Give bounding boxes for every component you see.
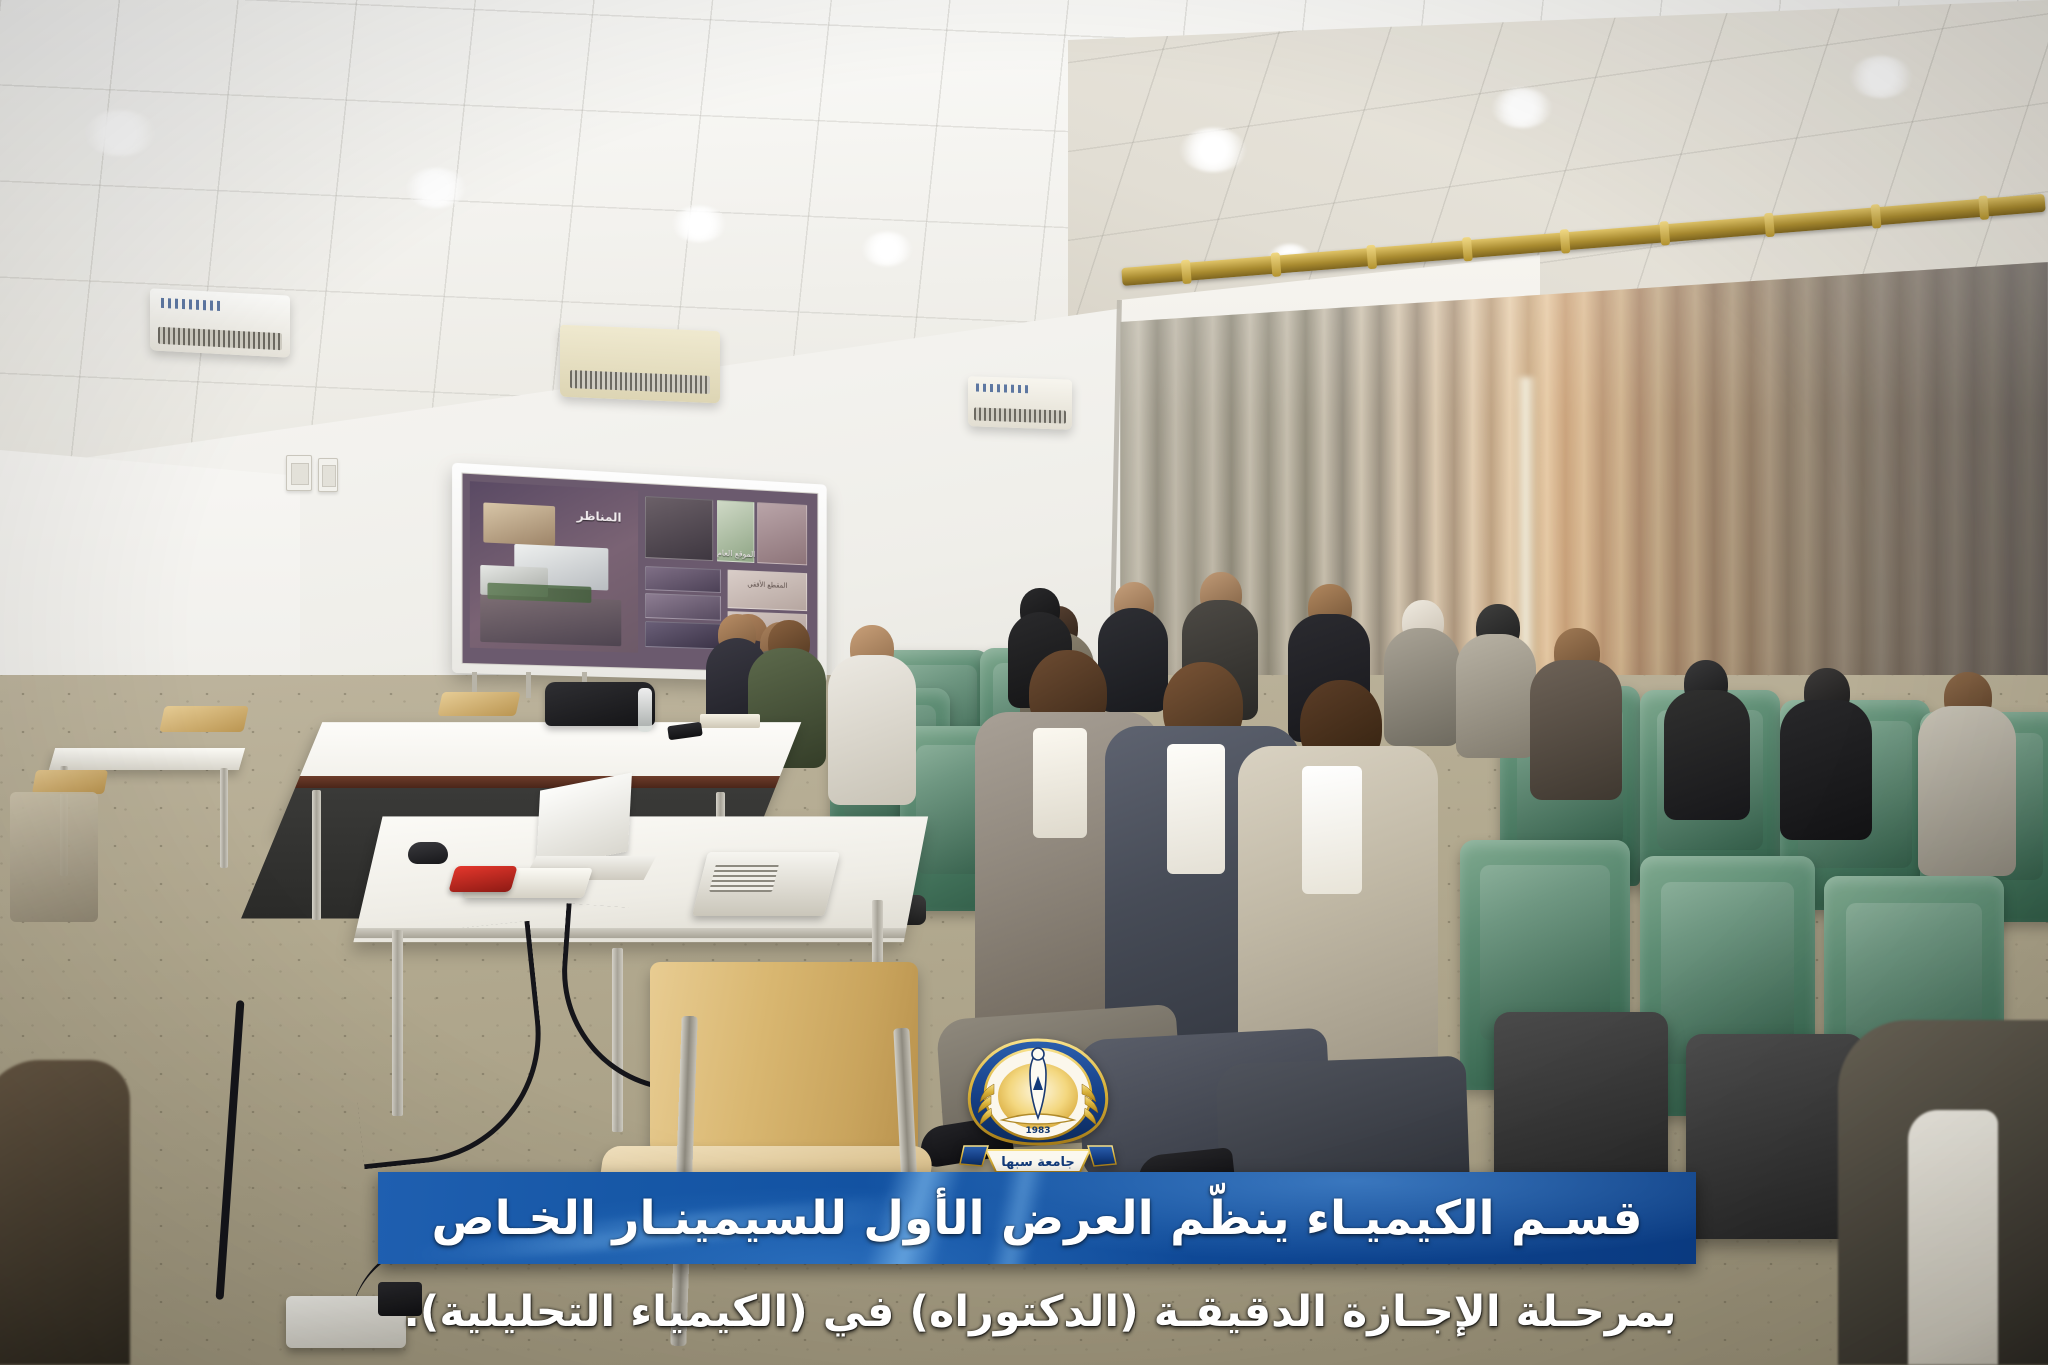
university-logo: 1983 جامعة سبها bbox=[958, 1032, 1118, 1182]
side-table bbox=[49, 748, 245, 770]
slide-title-text: المناظر bbox=[577, 509, 622, 525]
foreground-attendee-left bbox=[0, 1060, 130, 1365]
attendee-hijab bbox=[1456, 634, 1536, 758]
slide-card-plan-1 bbox=[727, 569, 807, 610]
screen-leg bbox=[526, 672, 531, 698]
ceiling-light-7 bbox=[1850, 56, 1912, 98]
slide-card-elevation-1 bbox=[645, 566, 721, 593]
ac-brand-badge bbox=[161, 298, 220, 311]
attendee-hijab bbox=[1664, 690, 1750, 820]
light-switch-plate-1[interactable] bbox=[286, 455, 312, 491]
ceiling-light-6 bbox=[1492, 88, 1552, 128]
wooden-chair-back bbox=[159, 706, 249, 732]
attendee bbox=[828, 655, 916, 805]
ceiling-light-5 bbox=[1180, 128, 1246, 172]
projector bbox=[692, 852, 840, 916]
stacked-chairs bbox=[10, 792, 98, 922]
attendee-body bbox=[1530, 660, 1622, 800]
curtain-ring bbox=[1181, 260, 1192, 285]
logo-founding-year: 1983 bbox=[1025, 1126, 1050, 1136]
air-conditioner-3 bbox=[968, 376, 1072, 430]
photo-canvas: المناظر الموقع العام المقطع الأفقي bbox=[0, 0, 2048, 1365]
slide-left-panel: المناظر bbox=[470, 482, 638, 654]
attendee-body bbox=[1384, 628, 1460, 746]
ceiling-light-2 bbox=[406, 168, 466, 208]
ceiling-light-1 bbox=[84, 110, 156, 156]
wooden-chair-back bbox=[32, 770, 108, 794]
attendee-shirt bbox=[1033, 728, 1087, 838]
slide-card-text bbox=[758, 502, 808, 565]
light-switch-plate-2[interactable] bbox=[318, 458, 338, 492]
slide-building-render bbox=[484, 502, 555, 545]
slide-card-aerial bbox=[645, 496, 714, 561]
attendee-hijab bbox=[1918, 706, 2016, 876]
attendee-body bbox=[828, 655, 916, 805]
slide-site-label: الموقع العام bbox=[717, 548, 755, 559]
air-conditioner-2 bbox=[560, 325, 720, 404]
curtain-ring bbox=[1764, 213, 1775, 238]
computer-mouse[interactable] bbox=[408, 842, 448, 864]
wooden-chair-back bbox=[437, 692, 520, 716]
ceiling-light-3 bbox=[672, 206, 726, 242]
ceiling-light-4 bbox=[862, 232, 912, 266]
curtain-ring bbox=[1366, 245, 1377, 270]
attendee-hijab bbox=[1384, 628, 1460, 746]
attendee-body bbox=[1780, 700, 1872, 840]
slide-plaza-render bbox=[480, 595, 621, 646]
caption-banner: قسـم الكيميـاء ينظّم العرض الأول للسيمين… bbox=[378, 1172, 1696, 1264]
projector-vent bbox=[709, 864, 779, 892]
attendee-hijab bbox=[1780, 700, 1872, 840]
attendee bbox=[1530, 660, 1622, 800]
laptop-screen bbox=[536, 772, 632, 869]
side-table-leg bbox=[220, 768, 228, 868]
attendee-body bbox=[1456, 634, 1536, 758]
ac-brand-badge bbox=[976, 383, 1028, 393]
notebook bbox=[700, 714, 760, 728]
attendee-body bbox=[1664, 690, 1750, 820]
sebha-university-emblem: 1983 جامعة سبها bbox=[958, 1032, 1118, 1182]
attendee-shirt bbox=[1167, 744, 1225, 874]
water-bottle bbox=[638, 688, 652, 732]
ac-vent-grill bbox=[570, 370, 711, 395]
caption-banner-text: قسـم الكيميـاء ينظّم العرض الأول للسيمين… bbox=[378, 1172, 1696, 1264]
remote-control[interactable] bbox=[448, 866, 517, 892]
slide-card-elevation-2 bbox=[645, 593, 721, 620]
curtain-ring bbox=[1560, 229, 1571, 254]
attendee bbox=[1098, 608, 1168, 712]
table-leg bbox=[312, 790, 321, 920]
curtain-ring bbox=[1659, 221, 1670, 246]
attendee-body bbox=[1918, 706, 2016, 876]
slide-detail-label: المقطع الأفقي bbox=[747, 580, 787, 590]
attendee-shirt bbox=[1302, 766, 1362, 894]
ac-vent-grill bbox=[974, 407, 1066, 423]
air-conditioner-1 bbox=[150, 288, 290, 357]
curtain-ring bbox=[1271, 252, 1282, 277]
curtain-ring bbox=[1462, 237, 1473, 262]
curtain-ring bbox=[1978, 195, 1989, 220]
curtain-ring bbox=[1871, 204, 1882, 229]
foreground-attendee-right-shirt bbox=[1908, 1110, 1998, 1365]
attendee-body bbox=[1098, 608, 1168, 712]
ac-vent-grill bbox=[158, 327, 281, 350]
caption-subtitle: بمرحـلة الإجـازة الدقيقـة (الدكتوراه) في… bbox=[340, 1276, 1740, 1348]
logo-ribbon-text: جامعة سبها bbox=[1001, 1155, 1075, 1170]
